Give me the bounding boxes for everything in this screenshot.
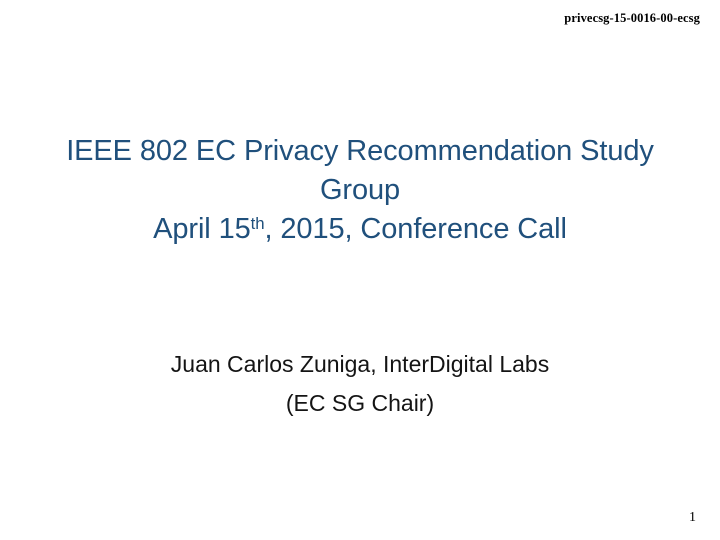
presentation-slide: privecsg-15-0016-00-ecsg IEEE 802 EC Pri… <box>0 0 720 540</box>
subtitle-line-author: Juan Carlos Zuniga, InterDigital Labs <box>60 345 660 384</box>
slide-title: IEEE 802 EC Privacy Recommendation Study… <box>36 132 684 249</box>
title-date-suffix: , 2015, Conference Call <box>264 213 566 245</box>
page-number: 1 <box>689 510 696 526</box>
document-number-header: privecsg-15-0016-00-ecsg <box>564 11 700 26</box>
title-line-1: IEEE 802 EC Privacy Recommendation Study <box>36 132 684 171</box>
slide-subtitle: Juan Carlos Zuniga, InterDigital Labs (E… <box>60 345 660 423</box>
title-date-prefix: April 15 <box>153 213 251 245</box>
title-line-2: Group <box>36 171 684 210</box>
subtitle-line-role: (EC SG Chair) <box>60 384 660 423</box>
title-line-3: April 15th, 2015, Conference Call <box>36 210 684 249</box>
title-date-ordinal-suffix: th <box>251 214 265 233</box>
